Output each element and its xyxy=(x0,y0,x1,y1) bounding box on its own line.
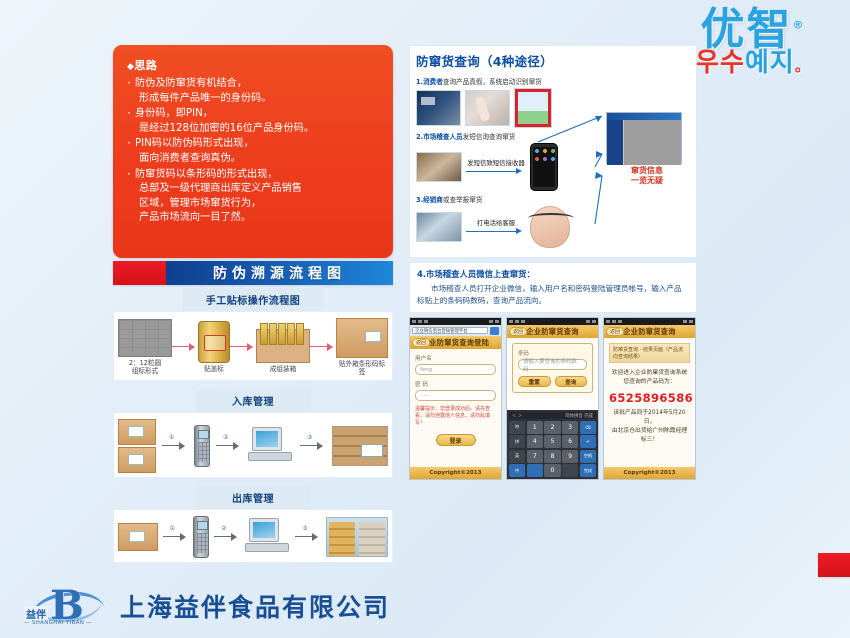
carton-icon xyxy=(118,419,156,445)
slide-root: 优智® 우수예지。 ◆思路 防伪及防窜货有机结合， 形成每件产品唯一的身份码。 … xyxy=(0,0,850,638)
idea-item: 防窜货码以条形码的形式出现， 总部及一级代理商出库定义产品销售 区域，管理市场窜… xyxy=(127,168,379,226)
right-column: 防窜货查询（4种途径） 1.消费者查询产品真假，系统启动识别窜货 2.市场稽查人… xyxy=(409,45,697,480)
page-title: 企业防窜货查询 xyxy=(623,327,675,337)
query-step-1-label: 1.消费者查询产品真假，系统启动识别窜货 xyxy=(416,76,696,86)
username-field[interactable]: feng xyxy=(415,364,496,375)
idea-line: 总部及一级代理商出库定义产品销售 xyxy=(135,182,379,197)
arrow-right-icon xyxy=(466,227,526,236)
can-caption: 贴盖标 xyxy=(198,365,230,373)
can-icon xyxy=(198,321,230,363)
idea-item: 防伪及防窜货有机结合， 形成每件产品唯一的身份码。 xyxy=(127,77,379,106)
idea-line: 身份码，即PIN， xyxy=(135,107,379,122)
brand-logo-kr-part1: 우수 xyxy=(695,48,745,78)
code-buttons: 重置 查询 xyxy=(518,376,587,387)
copyright-footer: Copyright©2013 xyxy=(410,467,501,479)
step-text: 发短信询查询窜货 xyxy=(463,133,516,141)
result-line-3: 该批产品同于2014年5月20日， xyxy=(609,409,690,427)
server-caption: 窜货信息 一览无疑 xyxy=(606,166,688,186)
open-carton-icon xyxy=(256,321,310,363)
page-title: 企业防窜货查询登陆 xyxy=(422,338,489,348)
key-period[interactable] xyxy=(562,464,578,477)
key-6[interactable]: 6 xyxy=(562,435,578,448)
logo-en-text: — SHANGHAI YIBAN — xyxy=(24,620,92,626)
label-sheet-icon xyxy=(118,319,172,357)
label-sheet-caption: 2：12粒圆组标形式 xyxy=(118,359,172,375)
registered-mark: ® xyxy=(793,18,806,31)
idea-line: 防窜货码以条形码的形式出现， xyxy=(135,168,379,183)
back-button[interactable]: 返回 xyxy=(606,327,624,336)
server-result-group: 窜货信息 一览无疑 xyxy=(606,112,688,186)
password-field[interactable]: ······ xyxy=(415,390,496,401)
phone-screenshots-row: 企业微信后台登陆管理平台 返回 企业防窜货查询登陆 用户名 feng 密 码 ·… xyxy=(409,317,697,480)
flow-arrow-icon: ③ xyxy=(295,532,321,542)
keyboard-row: 拼 4 5 6 ↵ xyxy=(509,435,596,448)
outbound-flow-row: ① ② ③ xyxy=(118,516,388,558)
carton-icon xyxy=(336,318,388,358)
code-placeholder: 请输入要查询的条码数码 xyxy=(523,357,582,373)
key-7[interactable]: 7 xyxy=(527,450,543,463)
photo-inspectors xyxy=(416,152,462,182)
reset-button[interactable]: 重置 xyxy=(518,376,551,387)
idea-item: PIN码以防伪码形式出现， 面向消费者查询真伪。 xyxy=(127,137,379,166)
key-enter[interactable]: ↵ xyxy=(580,435,596,448)
result-body: 防窜货查询 - 结果页面（产品流向查询结果） 欢迎进入企业防窜货查询系统 您查询… xyxy=(604,338,695,467)
carton-barcode-caption: 贴外箱条形码标签 xyxy=(336,360,388,376)
code-query-panel: 条码 请输入要查询的条码数码 重置 查询 xyxy=(512,343,593,393)
result-breadcrumb: 防窜货查询 - 结果页面（产品流向查询结果） xyxy=(609,343,690,363)
key-3[interactable]: 3 xyxy=(562,421,578,434)
idea-list: 防伪及防窜货有机结合， 形成每件产品唯一的身份码。 身份码，即PIN， 是经过1… xyxy=(127,77,379,226)
step-text: 查询产品真假，系统启动识别窜货 xyxy=(443,78,542,86)
status-bar xyxy=(410,318,501,325)
step-number: ② xyxy=(223,434,228,441)
arrow-right-icon xyxy=(466,167,526,176)
idea-item: 身份码，即PIN， 是经过128位加密的16位产品身份码。 xyxy=(127,107,379,136)
flow-arrow-icon: ① xyxy=(162,441,188,451)
result-line-1: 欢迎进入企业防窜货查询系统 xyxy=(609,369,690,378)
manual-label-flow-box: 2：12粒圆组标形式 贴盖标 成组装箱 xyxy=(113,311,393,381)
key-1[interactable]: 1 xyxy=(527,421,543,434)
flow-arrow-icon xyxy=(172,342,198,352)
can-label-step: 贴盖标 xyxy=(198,321,230,373)
key-symbol[interactable]: 符 xyxy=(509,421,525,434)
page-header: 返回 企业防窜货查询 xyxy=(604,325,695,338)
code-input[interactable]: 请输入要查询的条码数码 xyxy=(518,359,587,370)
idea-line: 防伪及防窜货有机结合， xyxy=(135,77,379,92)
label-sheet-step: 2：12粒圆组标形式 xyxy=(118,319,172,375)
browser-go-button[interactable] xyxy=(490,327,499,335)
username-value: feng xyxy=(420,367,432,373)
computer-icon xyxy=(248,427,294,465)
phone-login-screenshot: 企业微信后台登陆管理平台 返回 企业防窜货查询登陆 用户名 feng 密 码 ·… xyxy=(409,317,502,480)
flow-arrow-icon: ③ xyxy=(300,441,326,451)
packing-caption: 成组装箱 xyxy=(256,365,310,373)
step-actor: 经销商 xyxy=(423,196,443,204)
query-methods-panel: 防窜货查询（4种途径） 1.消费者查询产品真假，系统启动识别窜货 2.市场稽查人… xyxy=(409,45,697,258)
server-caption-line1: 窜货信息 xyxy=(631,166,663,175)
key-chinese[interactable]: 中 xyxy=(509,464,525,477)
copyright-footer: Copyright©2013 xyxy=(604,467,695,479)
password-value: ······ xyxy=(420,393,430,399)
key-done[interactable]: 完成 xyxy=(580,464,596,477)
brand-logo-kr-dot: 。 xyxy=(795,57,811,75)
cartons-stack xyxy=(118,419,156,473)
numeric-keyboard[interactable]: ＜ ＞ 简体拼音 完成 符 1 2 3 ⌫ 拼 4 5 6 xyxy=(507,410,598,479)
manual-label-flow-title: 手工贴标操作流程图 xyxy=(183,288,323,311)
photo-dealers xyxy=(416,212,462,242)
browser-url-bar[interactable]: 企业微信后台登陆管理平台 xyxy=(410,325,501,336)
page-header: 返回 企业防窜货查询 xyxy=(507,325,598,338)
carton-barcode-step: 贴外箱条形码标签 xyxy=(336,318,388,376)
inbound-flow-row: ① ② ③ xyxy=(118,419,388,473)
status-bar xyxy=(604,318,695,325)
key-backspace[interactable]: ⌫ xyxy=(580,421,596,434)
photo-hand-phone xyxy=(465,90,510,126)
key-5[interactable]: 5 xyxy=(544,435,560,448)
username-label: 用户名 xyxy=(415,354,496,362)
step-3-arrow-label: 打电话给客服 xyxy=(477,218,515,227)
key-pinyin[interactable]: 拼 xyxy=(509,435,525,448)
banner-left-label: 防伪溯源流程图 xyxy=(213,263,346,283)
query-button[interactable]: 查询 xyxy=(555,376,588,387)
keyboard-mode[interactable]: 简体拼音 完成 xyxy=(565,413,593,419)
photo-website-result xyxy=(514,88,552,128)
result-line-4: 由北京仓出货给广州陈霞经理标三！ xyxy=(609,427,690,445)
flow-arrow-icon xyxy=(310,342,336,352)
flow-arrow-icon xyxy=(230,342,256,352)
url-text: 企业微信后台登陆管理平台 xyxy=(415,328,468,334)
idea-line: 面向消费者查询真伪。 xyxy=(135,152,379,167)
key-4[interactable]: 4 xyxy=(527,435,543,448)
step-number: ① xyxy=(169,434,174,441)
page-header: 返回 企业防窜货查询登陆 xyxy=(410,336,501,349)
flow-arrow-icon: ② xyxy=(216,441,242,451)
step-2-arrow-label: 发短信致短信接收器 xyxy=(467,158,525,167)
company-name: 上海益伴食品有限公司 xyxy=(120,588,390,624)
key-0[interactable]: 0 xyxy=(544,464,560,477)
retail-store-icon xyxy=(326,517,388,557)
company-logo: B 益伴 — SHANGHAI YIBAN — xyxy=(24,582,110,630)
phone-result-screenshot: 返回 企业防窜货查询 防窜货查询 - 结果页面（产品流向查询结果） 欢迎进入企业… xyxy=(603,317,696,480)
keyboard-nav[interactable]: ＜ ＞ xyxy=(512,413,522,419)
photo-consumer-scan xyxy=(416,90,461,126)
key-9[interactable]: 9 xyxy=(562,450,578,463)
warehouse-shelf-icon xyxy=(332,426,388,466)
carton-icon xyxy=(118,447,156,473)
idea-line: PIN码以防伪码形式出现， xyxy=(135,137,379,152)
password-label: 密 码 xyxy=(415,380,496,388)
login-form: 用户名 feng 密 码 ······ 温馨提示：您登录成功后，请先查看，请勿泄… xyxy=(410,349,501,467)
section-4-heading: 4.市场稽查人员微信上查窜货： xyxy=(417,268,689,280)
query-panel-title: 防窜货查询（4种途径） xyxy=(410,46,696,73)
keyboard-row: 符 1 2 3 ⌫ xyxy=(509,421,596,434)
idea-line: 产品市场流向一目了然。 xyxy=(135,211,379,226)
flow-arrow-icon: ① xyxy=(163,532,189,542)
step-number: ③ xyxy=(307,434,312,441)
login-note: 温馨提示：您登录成功后，请先查看，请勿泄露他人信息，请勿乱填写！ xyxy=(415,406,496,427)
brand-logo-kr-part2: 예지 xyxy=(745,48,795,78)
logo-cn-badge: 益伴 xyxy=(24,606,48,621)
phone-code-entry-screenshot: 返回 企业防窜货查询 条码 请输入要查询的条码数码 重置 查询 xyxy=(506,317,599,480)
barcode-scanner-icon xyxy=(193,516,209,558)
keyboard-row: 中 0 完成 xyxy=(509,464,596,477)
step-number: ① xyxy=(170,525,175,532)
step-number: ③ xyxy=(302,525,307,532)
banner-blue-block: 防伪溯源流程图 xyxy=(166,261,393,285)
outbound-title: 出库管理 xyxy=(196,486,311,509)
smartphone-icon xyxy=(530,143,558,191)
idea-panel: ◆思路 防伪及防窜货有机结合， 形成每件产品唯一的身份码。 身份码，即PIN， … xyxy=(113,45,393,258)
computer-icon xyxy=(245,518,291,556)
slide-footer: B 益伴 — SHANGHAI YIBAN — 上海益伴食品有限公司 xyxy=(0,576,850,638)
flow-chart-column: 手工贴标操作流程图 2：12粒圆组标形式 贴盖标 xyxy=(113,288,393,508)
manual-flow-row: 2：12粒圆组标形式 贴盖标 成组装箱 xyxy=(118,318,388,376)
banner-red-block xyxy=(818,553,850,577)
key-extra[interactable] xyxy=(527,464,543,477)
idea-panel-title: ◆思路 xyxy=(127,57,379,73)
keyboard-toolbar: ＜ ＞ 简体拼音 完成 xyxy=(509,412,596,419)
outbound-flow-box: ① ② ③ xyxy=(113,509,393,563)
packing-step: 成组装箱 xyxy=(256,321,310,373)
step-text: 或查举报窜货 xyxy=(443,196,483,204)
back-button[interactable]: 返回 xyxy=(509,327,527,336)
step-number: ② xyxy=(221,525,226,532)
query-step-3-row: 打电话给客服 xyxy=(410,206,696,248)
step-actor: 市场稽查人员 xyxy=(423,133,463,141)
result-line-2: 您查询的产品码为： xyxy=(609,378,690,387)
back-button[interactable]: 返回 xyxy=(412,338,430,347)
page-title: 企业防窜货查询 xyxy=(526,327,578,337)
carton-icon xyxy=(118,523,158,551)
banner-red-block xyxy=(113,261,166,285)
result-product-code: 6525896586 xyxy=(609,391,690,405)
query-step-3-label: 3.经销商或查举报窜货 xyxy=(416,194,696,204)
banner-traceability-flow: 防伪溯源流程图 xyxy=(113,261,393,285)
idea-line: 形成每件产品唯一的身份码。 xyxy=(135,92,379,107)
inbound-title: 入库管理 xyxy=(196,389,311,412)
barcode-scanner-icon xyxy=(194,425,210,467)
flow-arrow-icon: ② xyxy=(214,532,240,542)
idea-line: 是经过128位加密的16位产品身份码。 xyxy=(135,122,379,137)
admin-console-screenshot xyxy=(606,112,682,164)
server-caption-line2: 一览无疑 xyxy=(631,176,663,185)
key-8[interactable]: 8 xyxy=(544,450,560,463)
key-space[interactable]: 空格 xyxy=(580,450,596,463)
step-actor: 消费者 xyxy=(423,78,443,86)
operator-headset-icon xyxy=(530,206,570,248)
keyboard-row: 英 7 8 9 空格 xyxy=(509,450,596,463)
key-english[interactable]: 英 xyxy=(509,450,525,463)
idea-line: 区域，管理市场窜货行为， xyxy=(135,197,379,212)
key-2[interactable]: 2 xyxy=(544,421,560,434)
section-4-wechat-query: 4.市场稽查人员微信上查窜货： 市场稽查人员打开企业微信，输入用户名和密码登陆管… xyxy=(409,262,697,313)
idea-panel-title-text: 思路 xyxy=(134,59,157,72)
section-4-body: 市场稽查人员打开企业微信，输入用户名和密码登陆管理员帐号，输入产品标贴上的条码码… xyxy=(417,283,689,306)
login-button[interactable]: 登录 xyxy=(436,434,476,446)
status-bar xyxy=(507,318,598,325)
banner-anti-diversion-query: 防窜货查询 xyxy=(818,553,850,577)
inbound-flow-box: ① ② ③ xyxy=(113,412,393,478)
